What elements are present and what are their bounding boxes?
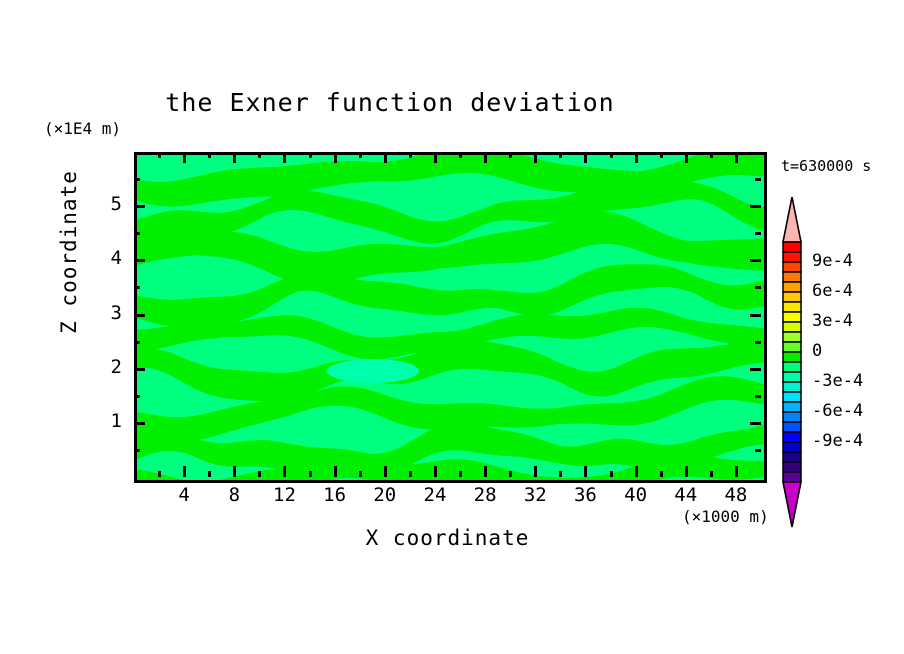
- y-tick-major-right: [750, 422, 761, 425]
- y-axis-title: Z coordinate: [57, 162, 81, 342]
- x-tick-major-top: [635, 152, 638, 163]
- x-tick-major: [534, 466, 537, 477]
- chart-page: the Exner function deviation (×1E4 m) (×…: [0, 0, 904, 654]
- time-annotation: t=630000 s: [781, 157, 871, 175]
- x-tick-minor: [258, 471, 261, 477]
- y-tick-label: 2: [92, 356, 122, 378]
- x-tick-major-top: [283, 152, 286, 163]
- x-tick-minor-top: [660, 152, 663, 158]
- x-tick-minor: [359, 471, 362, 477]
- x-tick-major-top: [484, 152, 487, 163]
- x-tick-label: 40: [613, 484, 659, 506]
- x-tick-minor-top: [509, 152, 512, 158]
- x-tick-major: [434, 466, 437, 477]
- x-tick-minor-top: [610, 152, 613, 158]
- y-tick-major-right: [750, 368, 761, 371]
- x-tick-major-top: [685, 152, 688, 163]
- x-tick-minor-top: [208, 152, 211, 158]
- y-tick-major-right: [750, 314, 761, 317]
- x-tick-major-top: [584, 152, 587, 163]
- x-tick-minor: [559, 471, 562, 477]
- x-tick-major-top: [384, 152, 387, 163]
- x-tick-label: 8: [211, 484, 257, 506]
- x-tick-label: 32: [512, 484, 558, 506]
- colorbar-tick-label: -3e-4: [812, 371, 863, 391]
- x-tick-minor: [660, 471, 663, 477]
- contour-plot-area: [134, 152, 767, 483]
- y-tick-minor: [134, 232, 140, 235]
- x-tick-label: 44: [663, 484, 709, 506]
- x-tick-label: 20: [362, 484, 408, 506]
- colorbar: [778, 196, 806, 528]
- y-tick-major-right: [750, 259, 761, 262]
- y-tick-label: 5: [92, 193, 122, 215]
- x-tick-minor: [208, 471, 211, 477]
- x-tick-minor-top: [258, 152, 261, 158]
- x-tick-major: [735, 466, 738, 477]
- x-tick-minor-top: [459, 152, 462, 158]
- x-tick-minor: [710, 471, 713, 477]
- colorbar-tick-label: 0: [812, 341, 822, 361]
- x-tick-label: 24: [412, 484, 458, 506]
- x-tick-major: [233, 466, 236, 477]
- x-tick-major-top: [735, 152, 738, 163]
- y-axis-unit-label: (×1E4 m): [44, 119, 121, 138]
- y-tick-minor-right: [755, 178, 761, 181]
- x-tick-minor-top: [158, 152, 161, 158]
- y-tick-minor: [134, 449, 140, 452]
- x-tick-major: [484, 466, 487, 477]
- x-tick-label: 12: [261, 484, 307, 506]
- x-tick-major: [283, 466, 286, 477]
- x-tick-minor-top: [710, 152, 713, 158]
- x-axis-title: X coordinate: [134, 526, 761, 550]
- y-tick-minor-right: [755, 341, 761, 344]
- x-tick-label: 28: [462, 484, 508, 506]
- x-tick-minor: [409, 471, 412, 477]
- y-tick-label: 3: [92, 302, 122, 324]
- colorbar-tick-label: 3e-4: [812, 311, 853, 331]
- x-tick-major-top: [334, 152, 337, 163]
- x-tick-minor-top: [309, 152, 312, 158]
- y-tick-minor: [134, 178, 140, 181]
- x-tick-major: [685, 466, 688, 477]
- negative-patch: [327, 359, 419, 383]
- x-tick-minor-top: [409, 152, 412, 158]
- x-tick-minor: [158, 471, 161, 477]
- y-tick-minor: [134, 341, 140, 344]
- x-tick-major-top: [233, 152, 236, 163]
- y-tick-major: [134, 368, 145, 371]
- y-tick-minor: [134, 286, 140, 289]
- y-tick-minor-right: [755, 286, 761, 289]
- x-tick-minor: [610, 471, 613, 477]
- x-tick-major: [183, 466, 186, 477]
- contour-field: [137, 155, 764, 480]
- x-tick-minor: [509, 471, 512, 477]
- x-tick-minor: [459, 471, 462, 477]
- x-tick-label: 48: [713, 484, 759, 506]
- y-tick-major-right: [750, 205, 761, 208]
- y-tick-minor: [134, 395, 140, 398]
- y-tick-minor-right: [755, 449, 761, 452]
- x-tick-label: 16: [312, 484, 358, 506]
- y-tick-minor-right: [755, 395, 761, 398]
- y-tick-minor-right: [755, 232, 761, 235]
- x-tick-minor-top: [559, 152, 562, 158]
- x-tick-major: [635, 466, 638, 477]
- x-tick-major: [584, 466, 587, 477]
- colorbar-tick-label: -9e-4: [812, 431, 863, 451]
- x-tick-major: [334, 466, 337, 477]
- y-tick-major: [134, 205, 145, 208]
- x-tick-major: [384, 466, 387, 477]
- x-tick-major-top: [183, 152, 186, 163]
- y-tick-major: [134, 259, 145, 262]
- x-tick-label: 4: [161, 484, 207, 506]
- y-tick-major: [134, 314, 145, 317]
- x-tick-label: 36: [562, 484, 608, 506]
- x-tick-major-top: [534, 152, 537, 163]
- x-tick-minor-top: [359, 152, 362, 158]
- page-title: the Exner function deviation: [0, 88, 780, 117]
- x-tick-minor: [309, 471, 312, 477]
- x-axis-unit-label: (×1000 m): [682, 507, 769, 526]
- colorbar-tick-label: 6e-4: [812, 281, 853, 301]
- x-tick-major-top: [434, 152, 437, 163]
- y-tick-major: [134, 422, 145, 425]
- colorbar-tick-label: -6e-4: [812, 401, 863, 421]
- y-tick-label: 1: [92, 410, 122, 432]
- colorbar-tick-label: 9e-4: [812, 251, 853, 271]
- y-tick-label: 4: [92, 247, 122, 269]
